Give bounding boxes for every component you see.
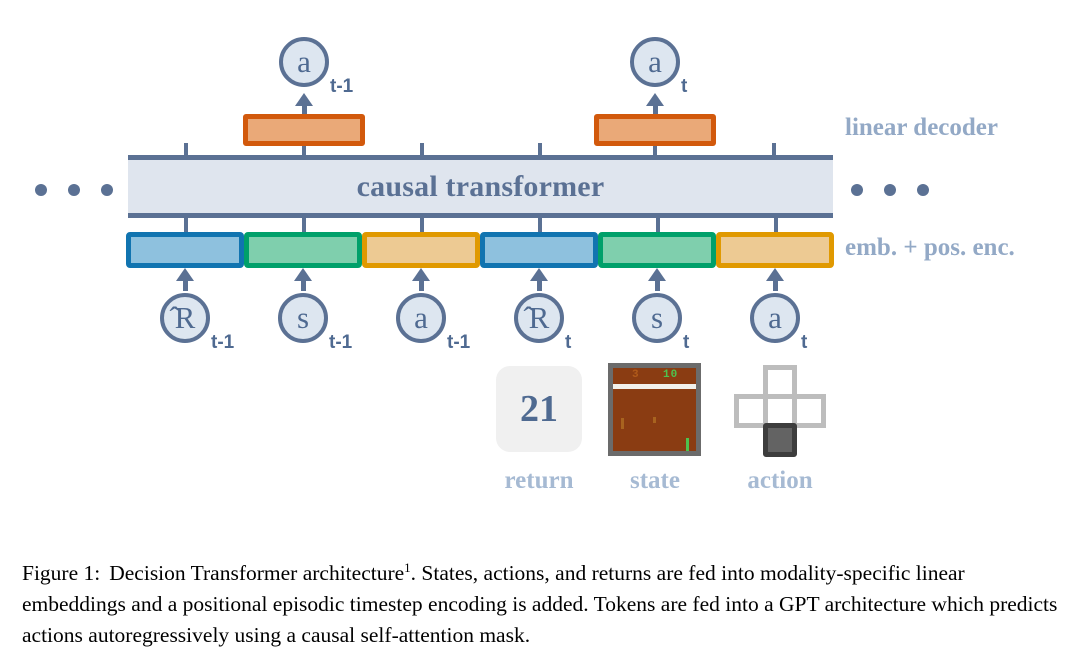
exemplar-label-return: return <box>486 467 592 495</box>
arrow-decoder-to-output-2 <box>652 93 664 114</box>
stub-embedding-to-transformer <box>420 216 424 233</box>
figure-1-root: a t-1 a t causal transformer <box>0 0 1090 670</box>
token-glyph: R <box>175 302 196 333</box>
linear-decoder-1 <box>243 114 365 146</box>
figure-caption: Figure 1:Decision Transformer architectu… <box>22 552 1068 651</box>
embedding-box-action-t <box>716 232 834 268</box>
exemplar-state: 3 10 <box>608 363 701 456</box>
token-glyph: a <box>297 46 311 77</box>
stub-embedding-to-transformer <box>656 216 660 233</box>
token-glyph: a <box>414 302 428 333</box>
input-token-state-t: s t <box>632 293 690 351</box>
token-circle: s <box>278 293 328 343</box>
return-card: 21 <box>496 366 582 452</box>
ellipsis-dot <box>101 184 113 196</box>
exemplar-label-action: action <box>722 467 838 495</box>
token-subscript: t-1 <box>330 76 353 98</box>
atari-score-left: 3 <box>632 369 640 381</box>
input-token-action-t: a t <box>750 293 808 351</box>
stub-embedding-to-transformer <box>302 216 306 233</box>
atari-paddle-left <box>621 418 624 429</box>
embedding-box-action-t-minus-1 <box>362 232 480 268</box>
embedding-box-state-t-minus-1 <box>244 232 362 268</box>
embedding-row <box>126 232 834 268</box>
stub-embedding-to-transformer <box>184 216 188 233</box>
output-token-a-t-minus-1: a t-1 <box>279 37 337 95</box>
dpad-right-icon <box>792 394 826 428</box>
exemplar-action <box>734 365 826 457</box>
ellipsis-left <box>35 184 113 196</box>
ellipsis-dot <box>884 184 896 196</box>
input-token-return-t-minus-1: R t-1 <box>160 293 218 351</box>
caption-lead: Decision Transformer architecture <box>109 561 404 585</box>
input-token-return-t: R t <box>514 293 572 351</box>
arrow-input-to-embedding <box>182 268 194 291</box>
embedding-box-return-t <box>480 232 598 268</box>
token-circle: a <box>396 293 446 343</box>
token-subscript: t-1 <box>329 332 352 354</box>
token-glyph: s <box>297 302 309 333</box>
arrow-input-to-embedding <box>300 268 312 291</box>
atari-top-wall <box>613 384 696 389</box>
caption-label: Figure 1: <box>22 561 100 585</box>
token-subscript: t-1 <box>211 332 234 354</box>
ellipsis-dot <box>851 184 863 196</box>
stub-embedding-to-transformer <box>774 216 778 233</box>
arrow-input-to-embedding <box>418 268 430 291</box>
token-subscript: t <box>683 332 689 354</box>
atari-paddle-right <box>686 438 689 451</box>
return-value: 21 <box>520 387 558 431</box>
input-token-action-t-minus-1: a t-1 <box>396 293 454 351</box>
dpad-icon <box>734 365 826 457</box>
atari-frame: 3 10 <box>608 363 701 456</box>
exemplar-label-state: state <box>604 467 706 495</box>
ellipsis-right <box>851 184 929 196</box>
token-circle: a <box>750 293 800 343</box>
embedding-box-state-t <box>598 232 716 268</box>
atari-score-right: 10 <box>663 369 678 381</box>
token-circle: s <box>632 293 682 343</box>
token-subscript: t <box>681 76 687 98</box>
token-subscript: t <box>565 332 571 354</box>
linear-decoder-2 <box>594 114 716 146</box>
atari-ball <box>653 417 656 423</box>
token-glyph: s <box>651 302 663 333</box>
causal-transformer-block: causal transformer <box>128 155 833 218</box>
token-circle: a <box>630 37 680 87</box>
causal-transformer-label: causal transformer <box>357 170 605 204</box>
token-subscript: t <box>801 332 807 354</box>
input-token-state-t-minus-1: s t-1 <box>278 293 336 351</box>
ellipsis-dot <box>68 184 80 196</box>
label-linear-decoder: linear decoder <box>845 114 998 142</box>
arrow-input-to-embedding <box>654 268 666 291</box>
dpad-down-icon-pressed <box>763 423 797 457</box>
embedding-box-return-t-minus-1 <box>126 232 244 268</box>
arrow-decoder-to-output-1 <box>301 93 313 114</box>
output-token-a-t: a t <box>630 37 688 95</box>
label-emb-pos-enc: emb. + pos. enc. <box>845 234 1015 262</box>
token-glyph: a <box>648 46 662 77</box>
arrow-input-to-embedding <box>772 268 784 291</box>
exemplar-return: 21 <box>496 366 582 452</box>
arrow-input-to-embedding <box>536 268 548 291</box>
token-glyph: a <box>768 302 782 333</box>
token-circle: R <box>160 293 210 343</box>
token-glyph: R <box>529 302 550 333</box>
token-circle: R <box>514 293 564 343</box>
stub-embedding-to-transformer <box>538 216 542 233</box>
ellipsis-dot <box>35 184 47 196</box>
token-subscript: t-1 <box>447 332 470 354</box>
ellipsis-dot <box>917 184 929 196</box>
token-circle: a <box>279 37 329 87</box>
